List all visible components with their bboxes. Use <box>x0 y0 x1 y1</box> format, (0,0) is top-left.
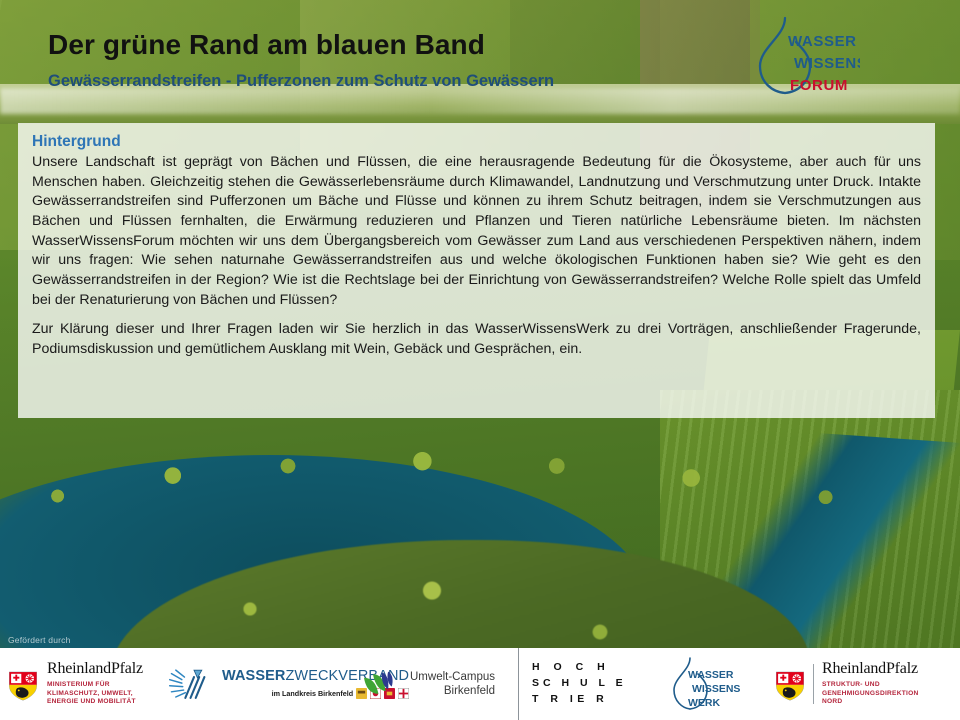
content-panel: Hintergrund Unsere Landschaft ist gepräg… <box>18 123 935 418</box>
footer-logo-sgd-nord: RheinlandPfalz STRUKTUR- UND GENEHMIGUNG… <box>773 648 958 720</box>
wasserwissensforum-logo: WASSER WISSENS FORUM <box>752 12 860 100</box>
ucb-line-2: Birkenfeld <box>410 684 495 698</box>
wwf-logo-line1: WASSER <box>788 33 857 50</box>
slide-root: Der grüne Rand am blauen Band Gewässerra… <box>0 0 960 720</box>
www-line3: WERK <box>688 697 720 709</box>
photo-treeline <box>0 430 960 550</box>
page-title: Der grüne Rand am blauen Band <box>48 29 485 61</box>
rheinland-pfalz-crest-icon <box>6 667 40 701</box>
footer-logo-bar: RheinlandPfalz MINISTERIUM FÜR KLIMASCHU… <box>0 648 960 720</box>
rlp-ministry-subtitle: MINISTERIUM FÜR KLIMASCHUTZ, UMWELT, ENE… <box>47 681 143 707</box>
rlp-wordmark: RheinlandPfalz <box>822 661 918 678</box>
header: Der grüne Rand am blauen Band Gewässerra… <box>0 0 960 112</box>
rheinland-pfalz-crest-icon <box>773 667 807 701</box>
ucb-line-1: Umwelt-Campus <box>410 670 495 684</box>
panel-paragraph-1: Unsere Landschaft ist geprägt von Bächen… <box>32 153 921 310</box>
sgd-subtitle: STRUKTUR- UND GENEHMIGUNGSDIREKTION NORD <box>822 681 918 707</box>
panel-heading: Hintergrund <box>32 133 921 151</box>
umwelt-campus-leaves-icon <box>358 667 404 701</box>
wwf-logo-line2: WISSENS <box>794 55 860 72</box>
hst-line-2: SC H U L E <box>532 676 627 692</box>
www-line2: WISSENS <box>692 683 740 695</box>
wwf-logo-line3: FORUM <box>790 77 848 94</box>
page-subtitle: Gewässerrandstreifen - Pufferzonen zum S… <box>48 72 554 91</box>
footer-logo-rlp-ministerium: RheinlandPfalz MINISTERIUM FÜR KLIMASCHU… <box>0 648 168 720</box>
footer-logo-umwelt-campus: Umwelt-Campus Birkenfeld <box>358 648 518 720</box>
wzv-subtitle: im Landkreis Birkenfeld <box>272 689 353 698</box>
hst-line-3: T R IE R <box>532 692 627 708</box>
logo-divider <box>813 664 814 704</box>
footer-logo-wasserzweckverband: WASSERZWECKVERBAND im Landkreis Birkenfe… <box>168 648 358 720</box>
water-rays-icon <box>168 664 220 704</box>
footer-logo-hochschule-trier: H O C H SC H U L E T R IE R <box>518 648 668 720</box>
wasserwissenswerk-drop-icon: WASSER WISSENS WERK <box>668 654 768 714</box>
footer-logo-wasserwissenswerk: WASSER WISSENS WERK <box>668 648 773 720</box>
www-line1: WASSER <box>688 669 734 681</box>
hst-line-1: H O C H <box>532 660 627 676</box>
rlp-wordmark: RheinlandPfalz <box>47 661 143 678</box>
funding-note: Gefördert durch <box>8 635 71 645</box>
panel-paragraph-2: Zur Klärung dieser und Ihrer Fragen lade… <box>32 320 921 359</box>
